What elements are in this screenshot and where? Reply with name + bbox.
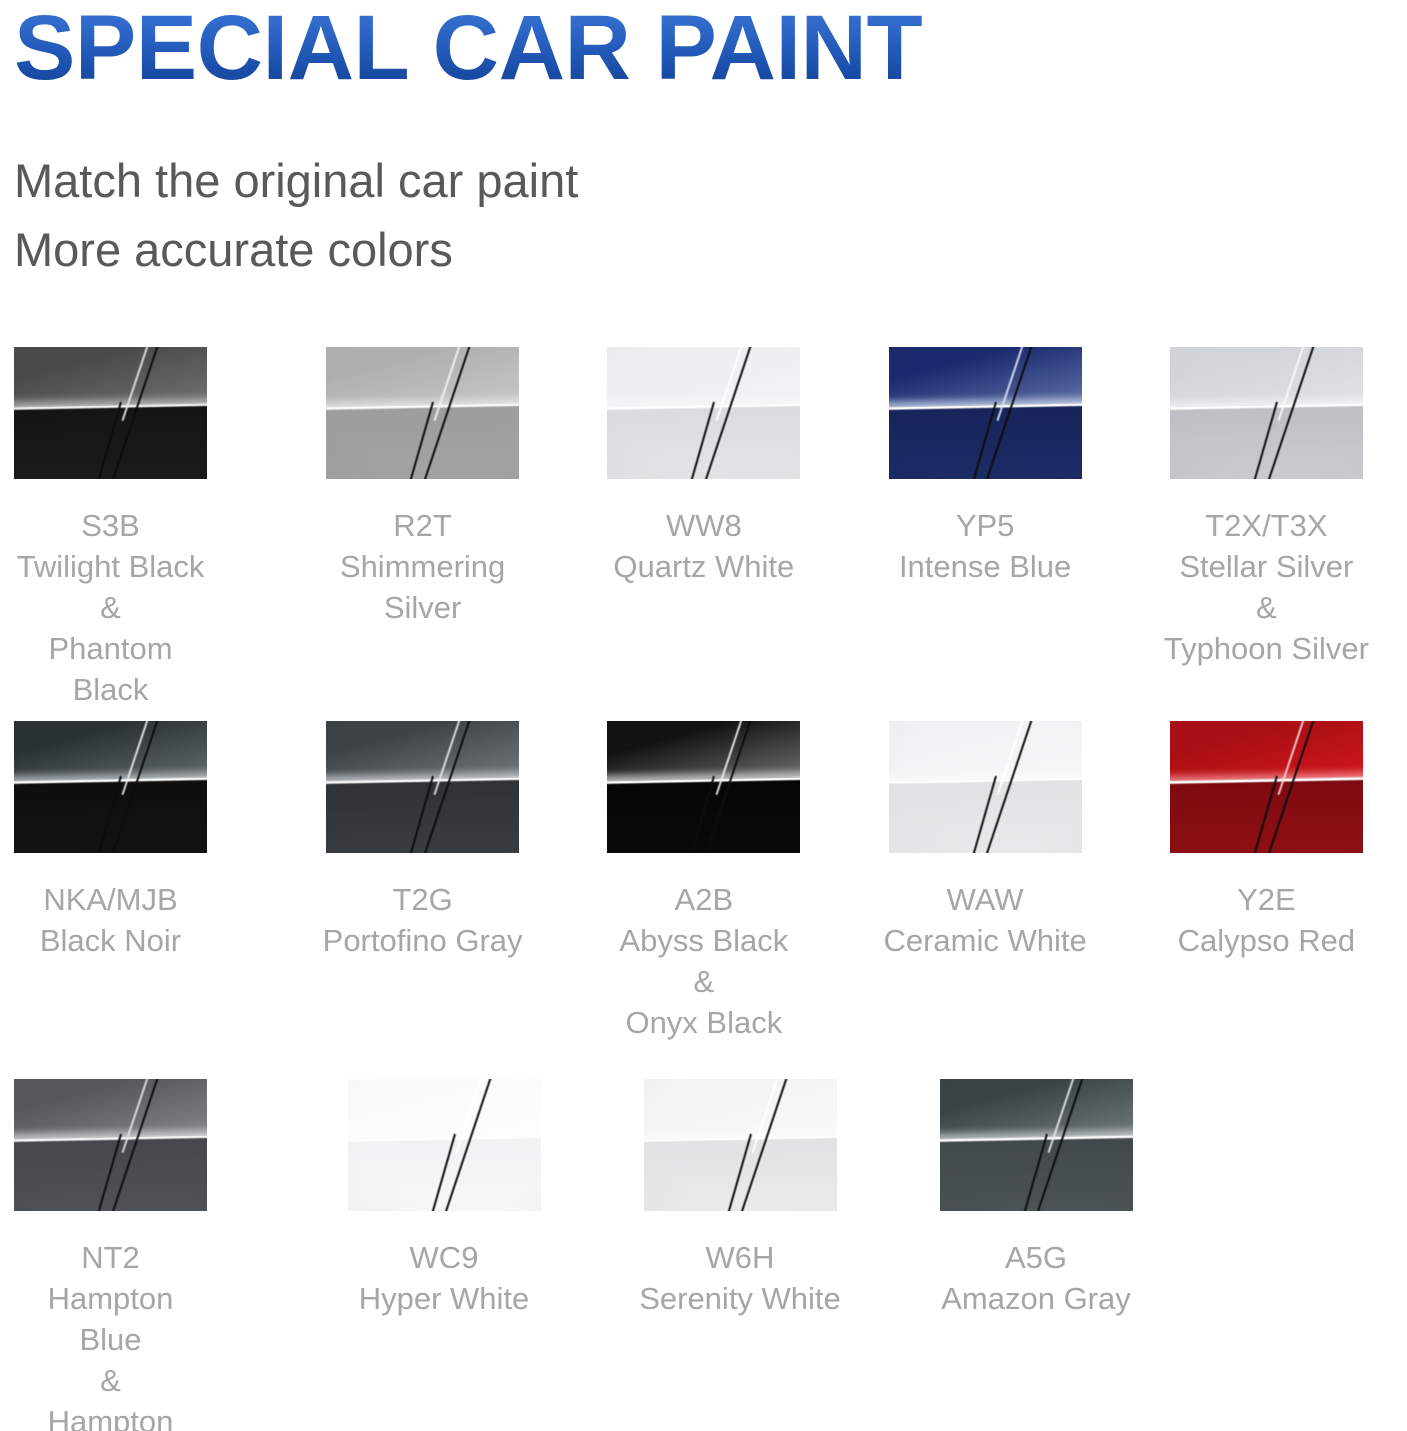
- car-panel-swatch-image[interactable]: [1170, 721, 1363, 853]
- car-panel-swatch-image[interactable]: [326, 721, 519, 853]
- paint-swatch-cell[interactable]: A5GAmazon Gray: [888, 1079, 1184, 1319]
- paint-code: T2X/T3X: [1126, 505, 1407, 546]
- paint-name: Serenity White: [592, 1278, 888, 1319]
- subtitle-line-1: Match the original car paint: [14, 146, 1407, 215]
- paint-swatch-cell[interactable]: Y2ECalypso Red: [1126, 721, 1407, 961]
- paint-name: Twilight Black & Phantom Black: [14, 546, 207, 710]
- car-panel-swatch-image[interactable]: [607, 721, 800, 853]
- paint-label: NKA/MJBBlack Noir: [14, 879, 207, 961]
- paint-code: S3B: [14, 505, 207, 546]
- car-panel-swatch-image[interactable]: [889, 721, 1082, 853]
- paint-code: NKA/MJB: [14, 879, 207, 920]
- paint-swatch-cell[interactable]: A2BAbyss Black & Onyx Black: [563, 721, 844, 1043]
- paint-label: W6HSerenity White: [592, 1237, 888, 1319]
- paint-name: Ceramic White: [844, 920, 1125, 961]
- car-panel-swatch-image[interactable]: [348, 1079, 541, 1211]
- paint-chart-page: SPECIAL CAR PAINT Match the original car…: [0, 0, 1407, 1431]
- paint-name: Calypso Red: [1126, 920, 1407, 961]
- paint-code: A5G: [888, 1237, 1184, 1278]
- paint-code: W6H: [592, 1237, 888, 1278]
- car-panel-swatch-image[interactable]: [889, 347, 1082, 479]
- paint-swatch-cell[interactable]: T2GPortofino Gray: [282, 721, 563, 961]
- paint-label: WW8Quartz White: [563, 505, 844, 587]
- paint-code: NT2: [14, 1237, 207, 1278]
- paint-name: Hampton Blue & Hampton Gray: [14, 1278, 207, 1431]
- paint-code: A2B: [563, 879, 844, 920]
- paint-name: Amazon Gray: [888, 1278, 1184, 1319]
- car-panel-swatch-image[interactable]: [14, 721, 207, 853]
- car-panel-swatch-image[interactable]: [940, 1079, 1133, 1211]
- car-panel-swatch-image[interactable]: [14, 347, 207, 479]
- paint-swatch-cell[interactable]: NT2Hampton Blue & Hampton Gray: [0, 1079, 296, 1431]
- paint-swatch-cell[interactable]: W6HSerenity White: [592, 1079, 888, 1319]
- paint-label: T2X/T3XStellar Silver & Typhoon Silver: [1126, 505, 1407, 669]
- paint-label: Y2ECalypso Red: [1126, 879, 1407, 961]
- paint-name: Hyper White: [296, 1278, 592, 1319]
- swatch-row: NKA/MJBBlack NoirT2GPortofino GrayA2BAby…: [0, 721, 1407, 1079]
- paint-code: WW8: [563, 505, 844, 546]
- paint-name: Portofino Gray: [282, 920, 563, 961]
- paint-name: Stellar Silver & Typhoon Silver: [1126, 546, 1407, 669]
- paint-swatch-cell[interactable]: WAWCeramic White: [844, 721, 1125, 961]
- paint-label: S3BTwilight Black & Phantom Black: [14, 505, 207, 710]
- paint-swatch-cell[interactable]: S3BTwilight Black & Phantom Black: [0, 347, 282, 710]
- header: SPECIAL CAR PAINT Match the original car…: [0, 0, 1407, 284]
- car-panel-swatch-image[interactable]: [1170, 347, 1363, 479]
- paint-code: R2T: [282, 505, 563, 546]
- paint-swatch-cell[interactable]: WC9Hyper White: [296, 1079, 592, 1319]
- car-panel-swatch-image[interactable]: [326, 347, 519, 479]
- subtitle-block: Match the original car paint More accura…: [0, 146, 1407, 284]
- paint-name: Shimmering Silver: [282, 546, 563, 628]
- paint-name: Intense Blue: [844, 546, 1125, 587]
- paint-label: WC9Hyper White: [296, 1237, 592, 1319]
- paint-label: A5GAmazon Gray: [888, 1237, 1184, 1319]
- paint-code: Y2E: [1126, 879, 1407, 920]
- paint-code: T2G: [282, 879, 563, 920]
- paint-swatch-cell[interactable]: WW8Quartz White: [563, 347, 844, 587]
- paint-name: Quartz White: [563, 546, 844, 587]
- paint-code: WAW: [844, 879, 1125, 920]
- paint-label: NT2Hampton Blue & Hampton Gray: [14, 1237, 207, 1431]
- car-panel-swatch-image[interactable]: [607, 347, 800, 479]
- paint-label: R2TShimmering Silver: [282, 505, 563, 628]
- subtitle-line-2: More accurate colors: [14, 215, 1407, 284]
- paint-name: Black Noir: [14, 920, 207, 961]
- swatch-row: NT2Hampton Blue & Hampton GrayWC9Hyper W…: [0, 1079, 1407, 1431]
- paint-label: WAWCeramic White: [844, 879, 1125, 961]
- paint-name: Abyss Black & Onyx Black: [563, 920, 844, 1043]
- paint-swatch-cell[interactable]: NKA/MJBBlack Noir: [0, 721, 282, 961]
- paint-code: YP5: [844, 505, 1125, 546]
- car-panel-swatch-image[interactable]: [14, 1079, 207, 1211]
- page-title: SPECIAL CAR PAINT: [0, 0, 1407, 94]
- paint-swatch-cell[interactable]: T2X/T3XStellar Silver & Typhoon Silver: [1126, 347, 1407, 669]
- car-panel-swatch-image[interactable]: [644, 1079, 837, 1211]
- swatch-row: S3BTwilight Black & Phantom BlackR2TShim…: [0, 347, 1407, 721]
- paint-swatch-cell[interactable]: R2TShimmering Silver: [282, 347, 563, 628]
- paint-label: T2GPortofino Gray: [282, 879, 563, 961]
- paint-swatch-cell[interactable]: YP5Intense Blue: [844, 347, 1125, 587]
- paint-swatch-grid: S3BTwilight Black & Phantom BlackR2TShim…: [0, 347, 1407, 1431]
- paint-code: WC9: [296, 1237, 592, 1278]
- paint-label: A2BAbyss Black & Onyx Black: [563, 879, 844, 1043]
- paint-label: YP5Intense Blue: [844, 505, 1125, 587]
